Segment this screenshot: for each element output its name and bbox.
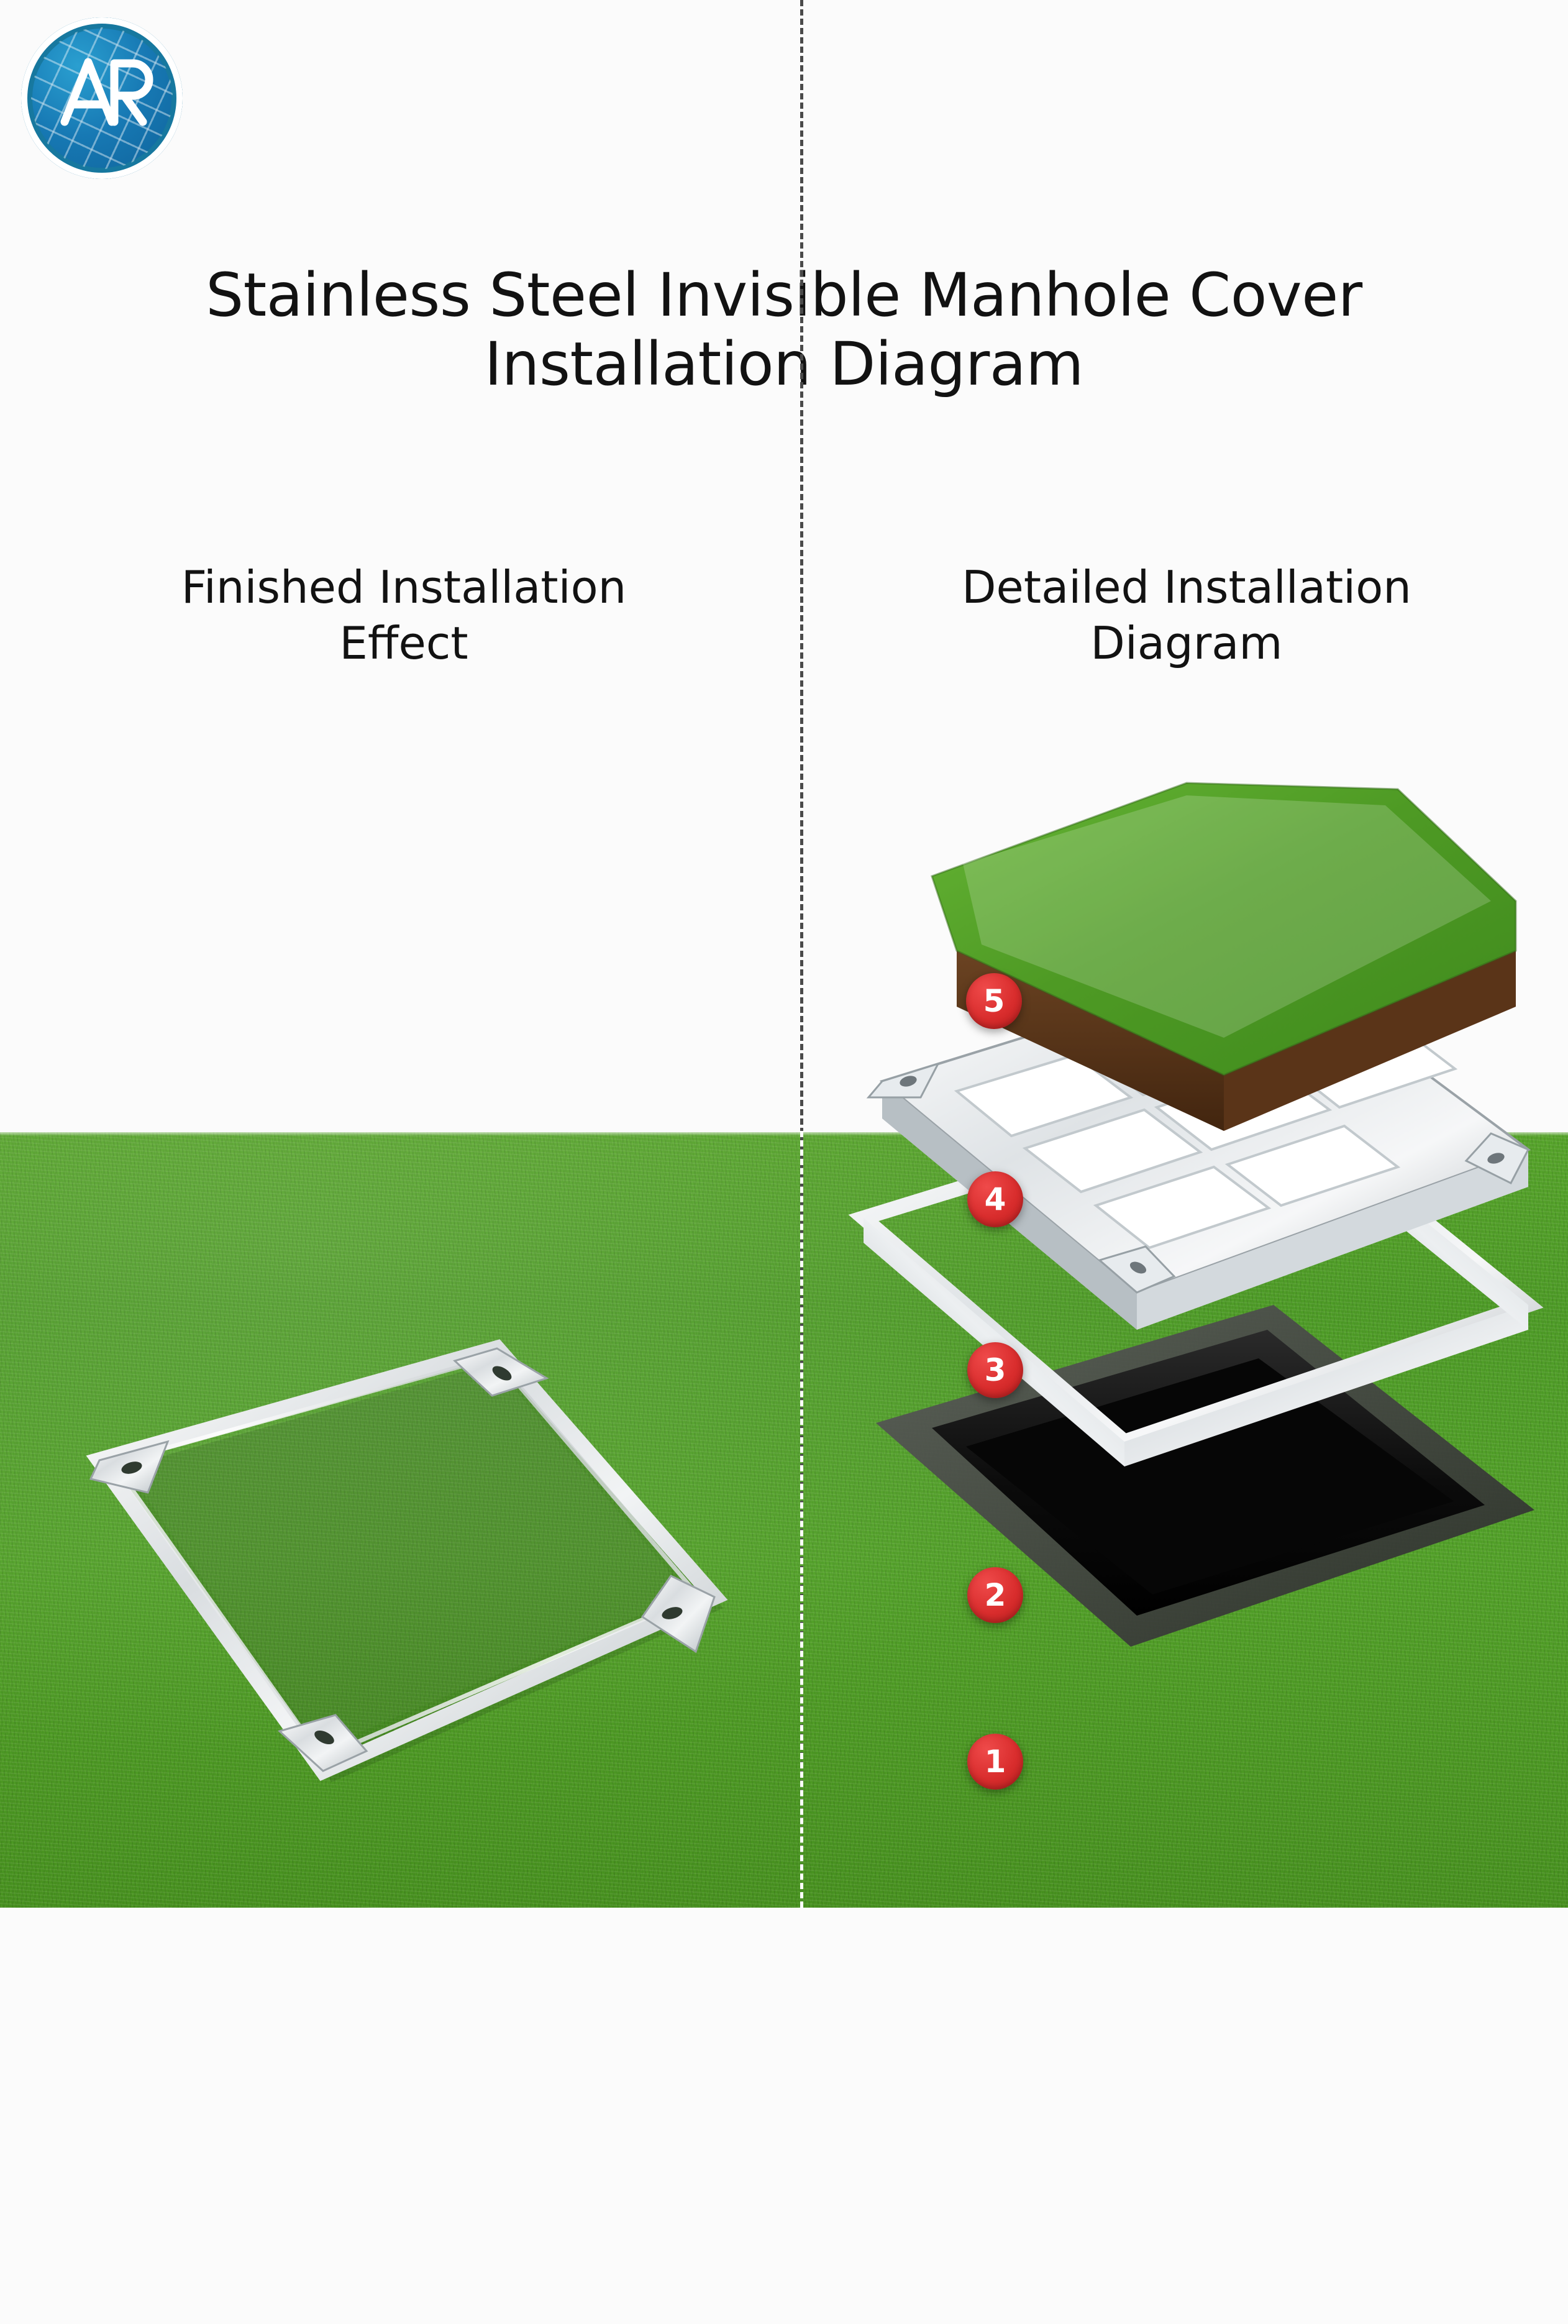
callout-5: 5 [966,973,1022,1029]
right-column-heading: Detailed Installation Diagram [845,559,1528,671]
right-column-heading-line-2: Diagram [845,615,1528,671]
column-divider-over-grass [800,1131,803,1908]
page-title-line-2: Installation Diagram [37,330,1531,399]
left-column-heading-line-1: Finished Installation [50,559,758,615]
page-title: Stainless Steel Invisible Manhole Cover … [37,261,1531,400]
brand-logo [21,17,201,179]
callout-4: 4 [967,1171,1023,1227]
callout-1: 1 [967,1734,1023,1790]
left-column-heading: Finished Installation Effect [50,559,758,671]
callout-2: 2 [967,1567,1023,1623]
exploded-installation-illustration [839,746,1553,1864]
legend: 1 Ground 2 Manhole 3 Manhole frame 4 Man… [0,1908,1568,2324]
left-column-heading-line-2: Effect [50,615,758,671]
finished-installation-illustration [75,1274,739,1808]
poster-root: Stainless Steel Invisible Manhole Cover … [0,0,1568,2324]
logo-ar-monogram-icon [21,17,183,179]
page-title-line-1: Stainless Steel Invisible Manhole Cover [37,261,1531,330]
callout-3: 3 [967,1342,1023,1398]
right-column-heading-line-1: Detailed Installation [845,559,1528,615]
